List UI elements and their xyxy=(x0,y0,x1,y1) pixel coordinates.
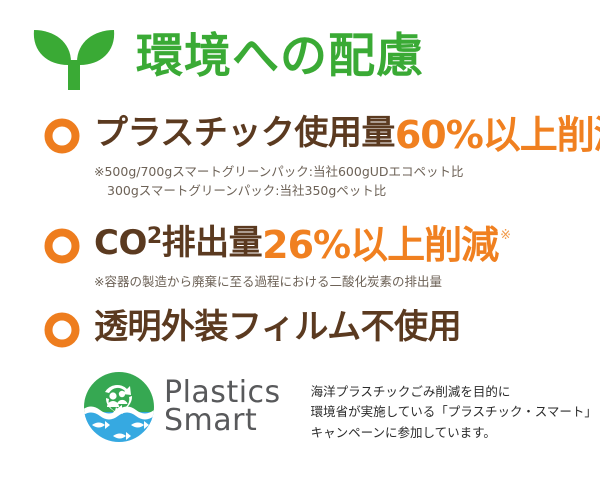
co2-subscript: 2 xyxy=(147,226,162,248)
footnote-line: ※容器の製造から廃棄に至る過程における二酸化炭素の排出量 xyxy=(94,274,442,289)
description-line: 環境省が実施している「プラスチック・スマート」 xyxy=(311,402,597,422)
eco-consideration-panel: 環境への配慮 プラスチック使用量 60%以上削減 ※ ※500g/700gスマー… xyxy=(0,0,600,481)
bullet-headline-dark-suffix: 排出量 xyxy=(162,226,263,262)
bullet-headline: プラスチック使用量 60%以上削減 ※ xyxy=(94,116,600,156)
bullet-row-no-film: 透明外装フィルム不使用 xyxy=(44,310,461,348)
bullet-row-co2-reduction: CO 2 排出量 26%以上削減 ※ ※容器の製造から廃棄に至る過程における二酸… xyxy=(44,226,511,291)
page-header: 環境への配慮 xyxy=(26,18,424,94)
footnote-line: 300gスマートグリーンパック:当社350gペット比 xyxy=(94,181,600,200)
page-title: 環境への配慮 xyxy=(136,33,424,80)
bullet-headline: 透明外装フィルム不使用 xyxy=(94,310,461,346)
orange-ring-icon xyxy=(44,118,80,154)
orange-ring-icon xyxy=(44,228,80,264)
bullet-headline-dark: プラスチック使用量 xyxy=(94,116,395,152)
bullet-body: プラスチック使用量 60%以上削減 ※ ※500g/700gスマートグリーンパッ… xyxy=(94,116,600,201)
bullet-headline-highlight: 60%以上削減 xyxy=(395,116,600,156)
plastics-smart-wordmark: Plastics Smart xyxy=(164,379,281,435)
bullet-footnotes: ※容器の製造から廃棄に至る過程における二酸化炭素の排出量 xyxy=(94,272,511,291)
bullet-body: CO 2 排出量 26%以上削減 ※ ※容器の製造から廃棄に至る過程における二酸… xyxy=(94,226,511,291)
sprout-leaf-icon xyxy=(26,18,122,94)
wordmark-line-2: Smart xyxy=(164,407,281,435)
asterisk-mark-icon: ※ xyxy=(500,228,511,241)
bullet-headline-highlight: 26%以上削減 xyxy=(262,226,498,266)
plastics-smart-block: Plastics Smart 海洋プラスチックごみ削減を目的に 環境省が実施して… xyxy=(82,370,597,444)
plastics-smart-globe-icon xyxy=(82,370,156,444)
bullet-headline-dark-prefix: CO xyxy=(94,226,147,262)
orange-ring-icon xyxy=(44,312,80,348)
bullet-row-plastic-reduction: プラスチック使用量 60%以上削減 ※ ※500g/700gスマートグリーンパッ… xyxy=(44,116,600,201)
description-line: キャンペーンに参加しています。 xyxy=(311,423,597,443)
bullet-body: 透明外装フィルム不使用 xyxy=(94,310,461,346)
bullet-headline-dark: 透明外装フィルム不使用 xyxy=(94,310,461,346)
bullet-headline: CO 2 排出量 26%以上削減 ※ xyxy=(94,226,511,266)
footnote-line: ※500g/700gスマートグリーンパック:当社600gUDエコペット比 xyxy=(94,164,464,179)
plastics-smart-logo: Plastics Smart xyxy=(82,370,281,444)
description-line: 海洋プラスチックごみ削減を目的に xyxy=(311,382,597,402)
bullet-footnotes: ※500g/700gスマートグリーンパック:当社600gUDエコペット比 300… xyxy=(94,162,600,201)
plastics-smart-description: 海洋プラスチックごみ削減を目的に 環境省が実施している「プラスチック・スマート」… xyxy=(311,382,597,443)
